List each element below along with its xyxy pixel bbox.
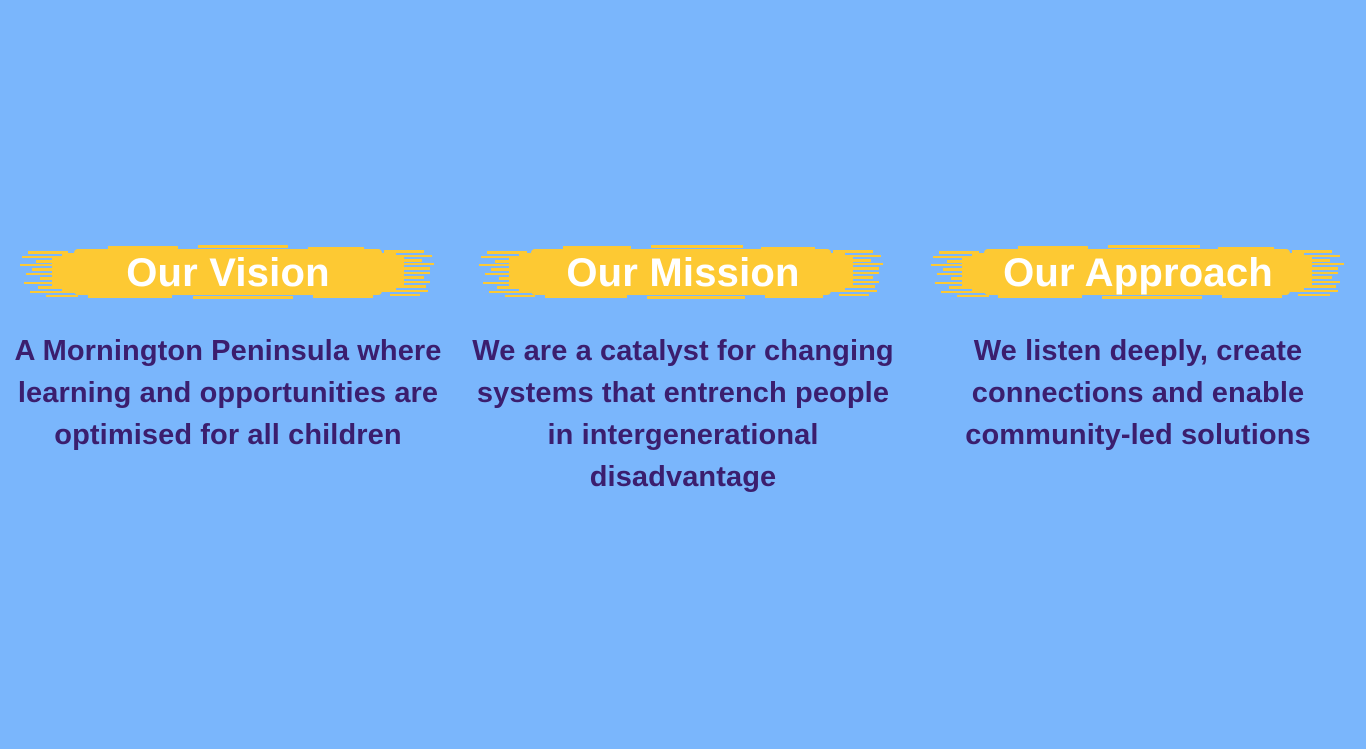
column-our-approach: Our Approach We listen deeply, create co…	[911, 236, 1366, 485]
heading-banner-our-vision: Our Vision	[1, 236, 456, 310]
column-heading-label: Our Approach	[1003, 250, 1273, 296]
slide-canvas: Our Vision A Mornington Peninsula where …	[0, 0, 1366, 749]
column-row: Our Vision A Mornington Peninsula where …	[0, 236, 1366, 527]
heading-banner-our-mission: Our Mission	[456, 236, 911, 310]
column-heading-label: Our Vision	[126, 250, 330, 296]
column-body-text: A Mornington Peninsula where learning an…	[1, 330, 456, 456]
column-body-text: We listen deeply, create connections and…	[911, 330, 1366, 456]
column-our-mission: Our Mission We are a catalyst for changi…	[456, 236, 911, 527]
column-heading-label: Our Mission	[566, 250, 799, 296]
column-body-text: We are a catalyst for changing systems t…	[456, 330, 911, 498]
heading-banner-our-approach: Our Approach	[911, 236, 1366, 310]
column-our-vision: Our Vision A Mornington Peninsula where …	[1, 236, 456, 485]
